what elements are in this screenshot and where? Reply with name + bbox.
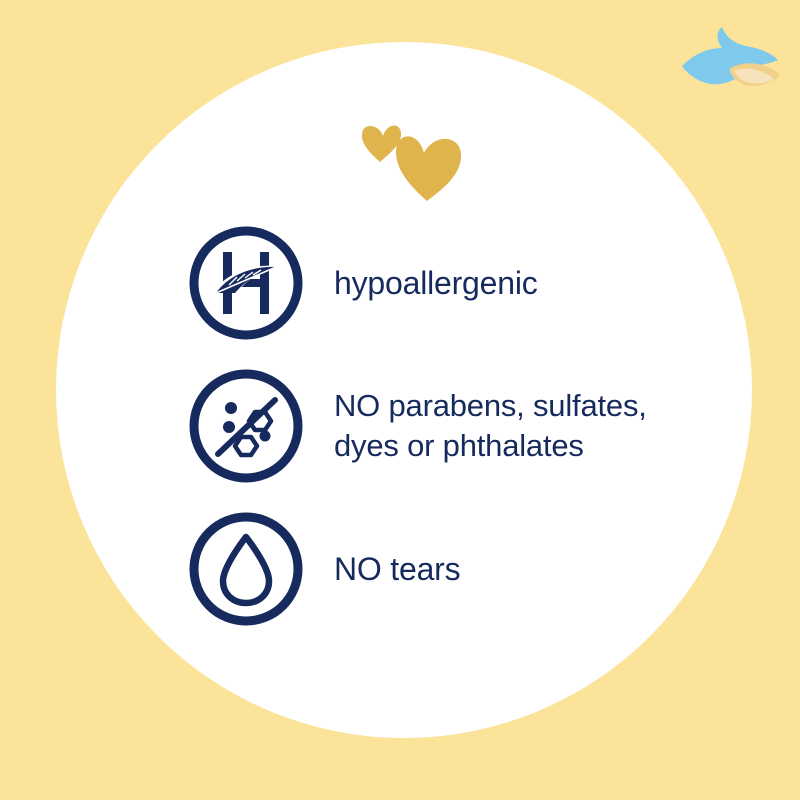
- claim-label: NO tears: [334, 549, 745, 590]
- hypoallergenic-feather-icon: [185, 222, 307, 344]
- bird-logo: [672, 24, 784, 96]
- claim-row: NO parabens, sulfates, dyes or phthalate…: [185, 365, 745, 487]
- heart-small: [362, 125, 401, 162]
- heart-large: [396, 136, 461, 201]
- claim-label: hypoallergenic: [334, 263, 745, 304]
- claims-badge-graphic: hypoallergenic: [0, 0, 800, 800]
- no-tears-droplet-icon: [185, 508, 307, 630]
- claim-row: NO tears: [185, 508, 745, 630]
- no-chemicals-slashed-molecule-icon: [185, 365, 307, 487]
- gold-hearts: [352, 108, 480, 208]
- claim-row: hypoallergenic: [185, 222, 745, 344]
- claims-list: hypoallergenic: [185, 222, 745, 630]
- claim-label: NO parabens, sulfates, dyes or phthalate…: [334, 386, 745, 465]
